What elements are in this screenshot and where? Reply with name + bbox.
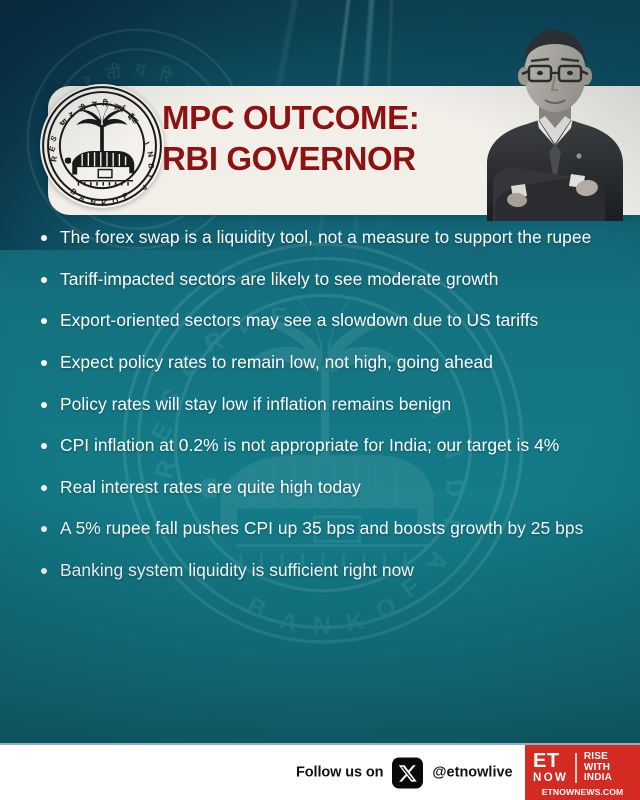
list-item: Policy rates will stay low if inflation … <box>0 393 640 416</box>
svg-text:K: K <box>101 199 107 208</box>
follow-us-label: Follow us on <box>296 765 383 781</box>
etnow-logo-top: ET NOW RISE WITH INDIA <box>525 748 640 785</box>
x-twitter-icon[interactable] <box>392 757 423 788</box>
etnow-wordmark: ET NOW <box>533 751 568 785</box>
etnow-website-url[interactable]: ETNOWNEWS.COM <box>525 787 640 797</box>
list-item: Real interest rates are quite high today <box>0 476 640 499</box>
follow-us-group: Follow us on @etnowlive <box>296 757 513 788</box>
list-item: Tariff-impacted sectors are likely to se… <box>0 268 640 291</box>
rbi-emblem-icon: भा र ती य रि ज़र्व बैंक R E S I N D I A … <box>40 84 164 208</box>
list-item: A 5% rupee fall pushes CPI up 35 bps and… <box>0 517 640 540</box>
rbi-governor-portrait <box>467 16 640 221</box>
etnow-tagline: RISE WITH INDIA <box>584 751 612 785</box>
list-item: Expect policy rates to remain low, not h… <box>0 351 640 374</box>
etnow-et-text: ET <box>533 751 568 771</box>
svg-text:D: D <box>147 163 156 169</box>
footer-bar: Follow us on @etnowlive ET NOW RISE WITH… <box>0 745 640 800</box>
infographic-poster: R E S E R V E I N D I A B A N K O F <box>0 0 640 800</box>
etnow-tagline-line1: RISE <box>584 752 612 763</box>
list-item: Export-oriented sectors may see a slowdo… <box>0 309 640 332</box>
page-title: MPC OUTCOME: RBI GOVERNOR <box>162 98 492 180</box>
key-points-list: The forex swap is a liquidity tool, not … <box>0 226 640 601</box>
etnow-tagline-line3: INDIA <box>584 773 612 784</box>
etnow-divider <box>575 753 577 783</box>
list-item: The forex swap is a liquidity tool, not … <box>0 226 640 249</box>
list-item: Banking system liquidity is sufficient r… <box>0 559 640 582</box>
svg-text:य: य <box>91 100 97 109</box>
etnow-logo[interactable]: ET NOW RISE WITH INDIA ETNOWNEWS.COM <box>525 745 640 800</box>
social-handle[interactable]: @etnowlive <box>432 765 512 781</box>
list-item: CPI inflation at 0.2% is not appropriate… <box>0 434 640 457</box>
etnow-now-text: NOW <box>533 773 568 785</box>
